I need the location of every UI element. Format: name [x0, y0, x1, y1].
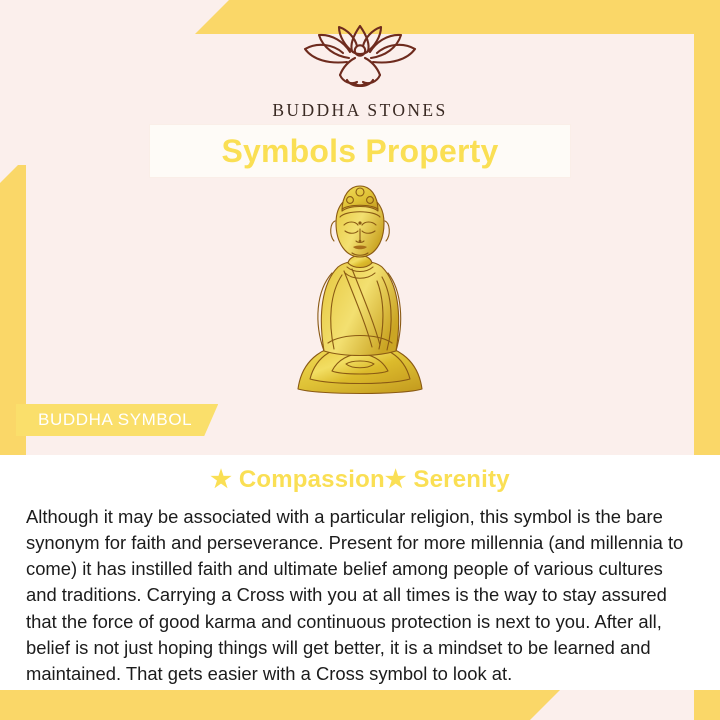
- content-paragraph: Although it may be associated with a par…: [26, 504, 694, 687]
- content-subtitle: ★ Compassion★ Serenity: [26, 465, 694, 494]
- page-title: Symbols Property: [221, 133, 498, 170]
- content-panel: ★ Compassion★ Serenity Although it may b…: [0, 455, 720, 690]
- title-banner: Symbols Property: [150, 125, 570, 177]
- seated-buddha-illustration: [284, 183, 436, 405]
- category-ribbon: BUDDHA SYMBOL: [16, 404, 218, 436]
- infographic-page: BUDDHA STONES Symbols Property: [0, 0, 720, 720]
- decorative-bottom-bar: [0, 690, 560, 720]
- brand-wordmark: BUDDHA STONES: [272, 100, 447, 121]
- ribbon-label: BUDDHA SYMBOL: [38, 410, 192, 430]
- hero-section: BUDDHA STONES Symbols Property: [0, 0, 720, 455]
- brand-logo: BUDDHA STONES: [0, 22, 720, 121]
- lotus-meditation-icon: [299, 22, 421, 94]
- buddha-image-container: [0, 183, 720, 405]
